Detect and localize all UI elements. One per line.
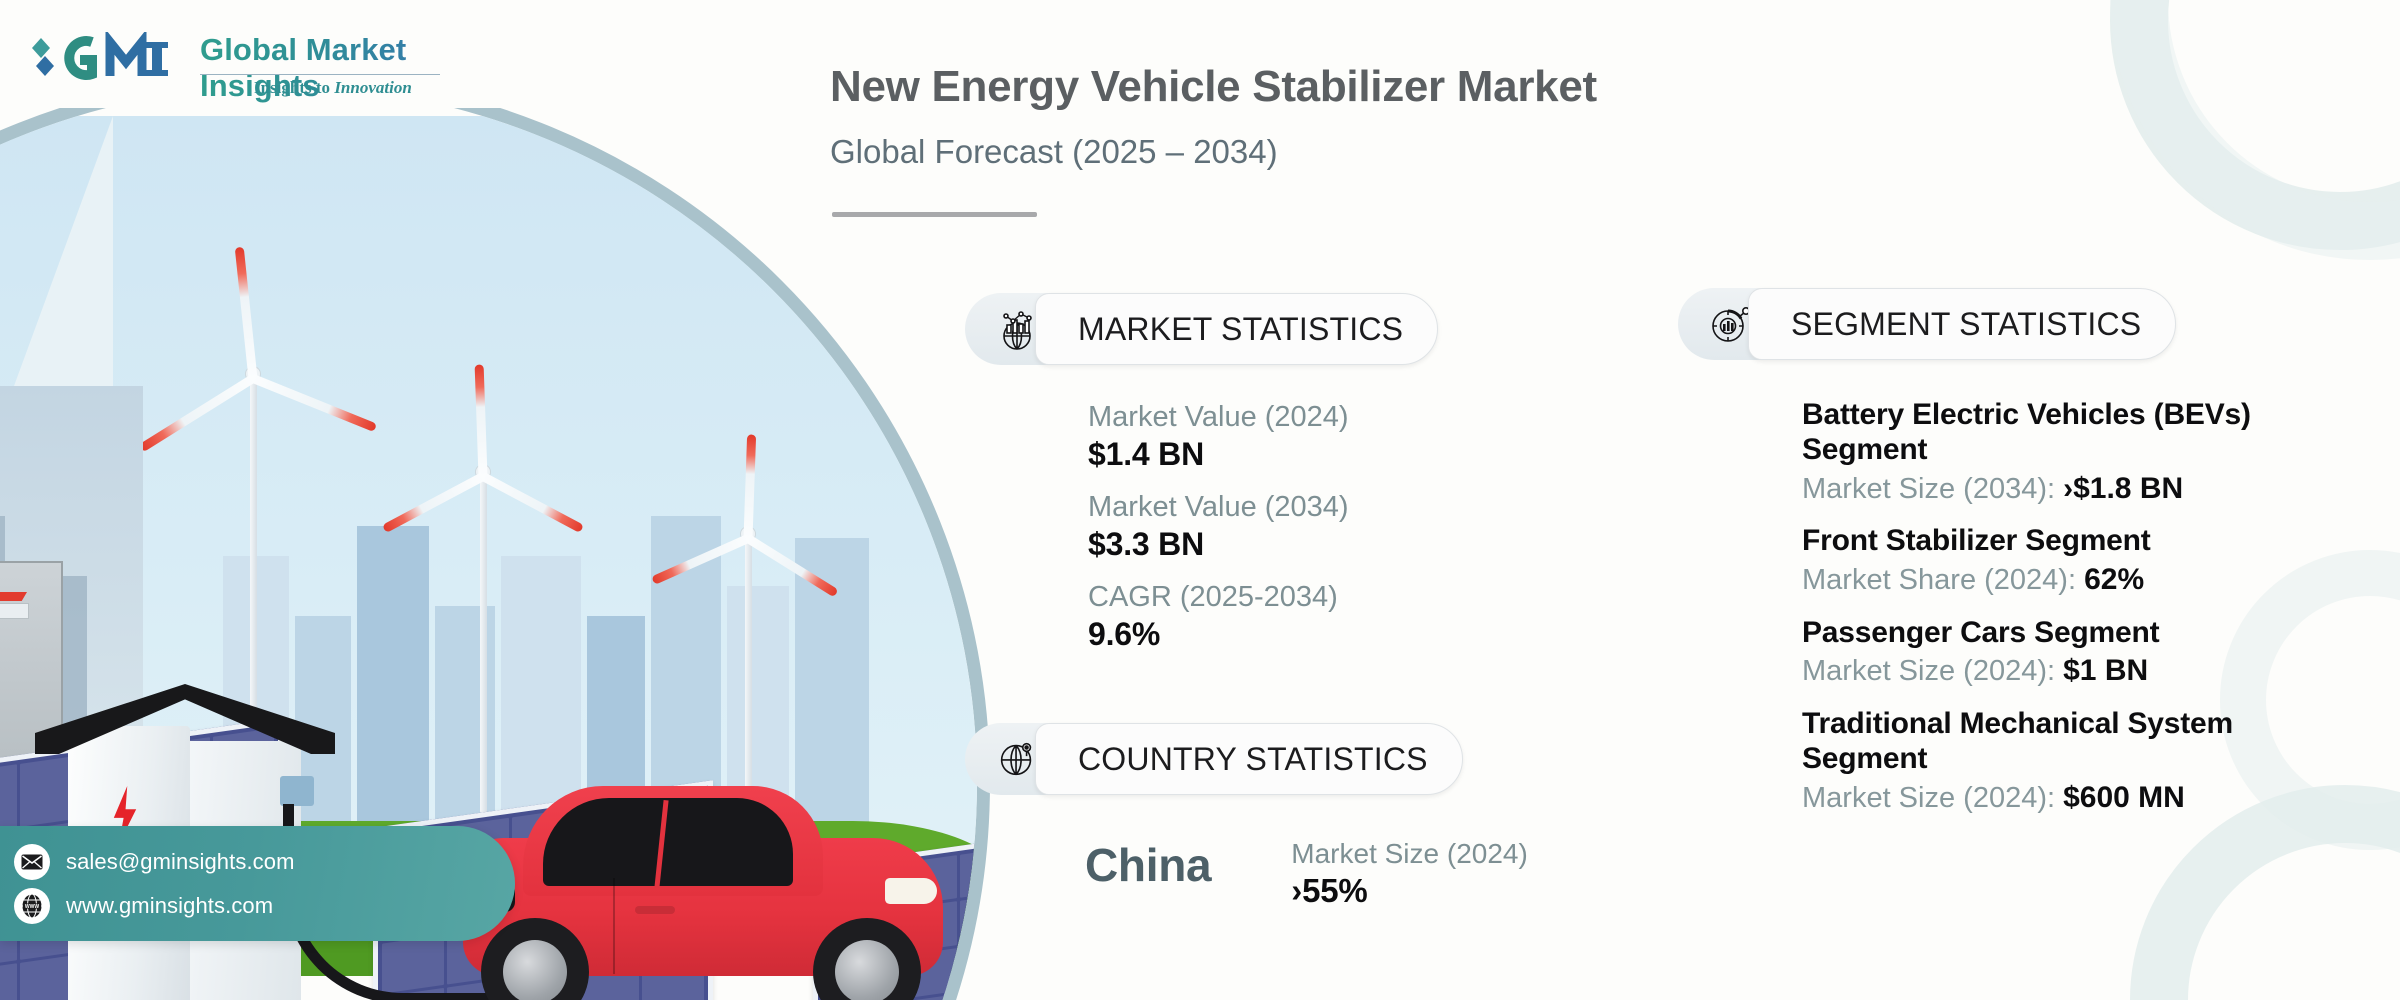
contact-band: sales@gminsights.com WWW www.gminsights.… (0, 826, 515, 941)
market-statistics-title: MARKET STATISTICS (1035, 293, 1438, 365)
segment-item: Front Stabilizer Segment Market Share (2… (1802, 524, 2362, 599)
svg-text:WWW: WWW (25, 903, 39, 909)
stat-label: Market Value (2024) (1088, 400, 1349, 434)
segment-metric: Market Share (2024): 62% (1802, 560, 2362, 600)
segment-title: Front Stabilizer Segment (1802, 524, 2362, 559)
wind-turbine (403, 464, 563, 814)
country-statistics-badge: COUNTRY STATISTICS (965, 723, 1463, 795)
stat-label: Market Value (2034) (1088, 490, 1349, 524)
gmi-diamond-logo-icon (22, 32, 194, 86)
segment-metric-value: ›$1.8 BN (2063, 472, 2183, 505)
segment-metric: Market Size (2034): ›$1.8 BN (1802, 469, 2362, 509)
segment-metric-value: 62% (2084, 563, 2144, 596)
stat-value: 9.6% (1088, 614, 1349, 656)
contact-website-row[interactable]: WWW www.gminsights.com (14, 888, 515, 924)
envelope-icon (14, 844, 50, 880)
gmi-logo[interactable]: Global Market Insights Insights to Innov… (22, 30, 442, 104)
page-subtitle: Global Forecast (2025 – 2034) (830, 133, 1278, 171)
segment-statistics-title: SEGMENT STATISTICS (1748, 288, 2176, 360)
segment-metric: Market Size (2024): $1 BN (1802, 651, 2362, 691)
contact-website: www.gminsights.com (66, 893, 273, 919)
segment-item: Traditional Mechanical System Segment Ma… (1802, 707, 2362, 817)
segment-title: Passenger Cars Segment (1802, 616, 2362, 651)
stat-value: $3.3 BN (1088, 524, 1349, 566)
segment-title: Traditional Mechanical System Segment (1802, 707, 2362, 777)
segment-metric-value: $600 MN (2063, 781, 2185, 814)
charger-screen (280, 776, 314, 806)
title-underline (832, 212, 1037, 217)
market-statistics-list: Market Value (2024) $1.4 BN Market Value… (1088, 400, 1349, 669)
stat-row: Market Value (2024) $1.4 BN (1088, 400, 1349, 476)
country-name: China (1085, 838, 1211, 892)
market-statistics-badge: MARKET STATISTICS (965, 293, 1438, 365)
headlight (885, 878, 937, 904)
logo-tagline: Insights to Innovation (254, 78, 412, 98)
decorative-ring (2110, 0, 2400, 260)
segment-item: Passenger Cars Segment Market Size (2024… (1802, 616, 2362, 691)
country-metric-label: Market Size (2024) (1291, 838, 1528, 870)
segment-statistics-badge: SEGMENT STATISTICS (1678, 288, 2176, 360)
stat-label: CAGR (2025-2034) (1088, 580, 1349, 614)
infographic-canvas: ENERGYSTORAGE SYSTEM (0, 0, 2400, 1000)
country-statistics-title: COUNTRY STATISTICS (1035, 723, 1463, 795)
stat-value: $1.4 BN (1088, 434, 1349, 476)
stat-row: Market Value (2034) $3.3 BN (1088, 490, 1349, 566)
segment-metric-value: $1 BN (2063, 654, 2148, 687)
segment-metric: Market Size (2024): $600 MN (1802, 778, 2362, 818)
country-statistics-content: China Market Size (2024) ›55% (1085, 838, 1528, 910)
electric-car (463, 786, 943, 1000)
segment-statistics-list: Battery Electric Vehicles (BEVs) Segment… (1802, 398, 2362, 833)
segment-item: Battery Electric Vehicles (BEVs) Segment… (1802, 398, 2362, 508)
page-title: New Energy Vehicle Stabilizer Market (830, 62, 1597, 112)
contact-email-row[interactable]: sales@gminsights.com (14, 844, 515, 880)
stat-row: CAGR (2025-2034) 9.6% (1088, 580, 1349, 656)
segment-title: Battery Electric Vehicles (BEVs) Segment (1802, 398, 2362, 468)
www-globe-icon: WWW (14, 888, 50, 924)
contact-email: sales@gminsights.com (66, 849, 295, 875)
country-metric-value: ›55% (1291, 872, 1528, 910)
logo-divider (200, 74, 440, 75)
